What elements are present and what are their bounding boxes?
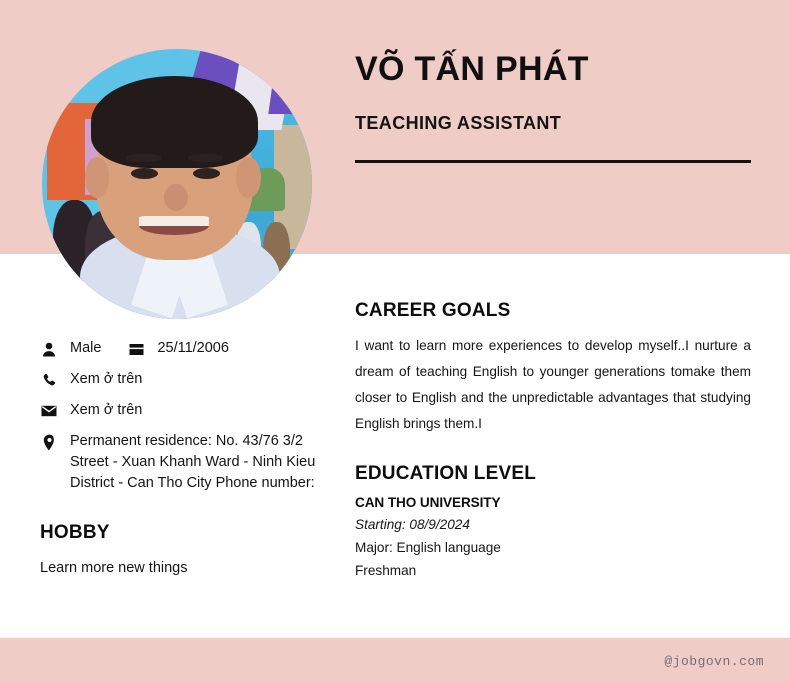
photo-subject-eyebrow-right xyxy=(188,154,223,162)
contact-row-gender-birthdate: Male 25/11/2006 xyxy=(40,338,340,359)
education-school: CAN THO UNIVERSITY xyxy=(355,495,751,510)
contact-birthdate-value: 25/11/2006 xyxy=(157,338,229,359)
footer-watermark: @jobgovn.com xyxy=(664,654,764,669)
location-pin-icon xyxy=(40,432,58,452)
person-icon xyxy=(40,339,58,359)
photo-subject-teeth xyxy=(139,216,209,226)
envelope-icon xyxy=(40,401,58,421)
career-goals-text: I want to learn more experiences to deve… xyxy=(355,333,751,437)
education-major: Major: English language xyxy=(355,540,751,555)
main-content-column: CAREER GOALS I want to learn more experi… xyxy=(355,300,751,578)
header-divider xyxy=(355,160,751,163)
job-role: TEACHING ASSISTANT xyxy=(355,113,751,134)
contact-gender: Male xyxy=(40,338,101,359)
profile-photo-image xyxy=(42,49,312,319)
contact-gender-value: Male xyxy=(70,338,101,359)
contact-column: Male 25/11/2006 Xem ở trên X xyxy=(40,338,340,578)
contact-phone-value: Xem ở trên xyxy=(70,369,142,390)
photo-subject-eye-left xyxy=(131,168,158,179)
education-starting-date: Starting: 08/9/2024 xyxy=(355,517,751,532)
photo-subject-eyebrow-left xyxy=(126,154,161,162)
contact-row-address: Permanent residence: No. 43/76 3/2 Stree… xyxy=(40,431,340,494)
contact-birthdate: 25/11/2006 xyxy=(127,338,229,359)
contact-address-value: Permanent residence: No. 43/76 3/2 Stree… xyxy=(70,431,340,494)
header-text-block: VÕ TẤN PHÁT TEACHING ASSISTANT xyxy=(355,49,751,163)
photo-subject-ear-left xyxy=(85,157,109,198)
photo-background-canopy-purple-right xyxy=(268,49,312,114)
education-year-level: Freshman xyxy=(355,563,751,578)
hobby-text: Learn more new things xyxy=(40,558,340,578)
photo-subject-eye-right xyxy=(193,168,220,179)
photo-subject-ear-right xyxy=(236,157,260,198)
phone-icon xyxy=(40,370,58,390)
contact-row-email: Xem ở trên xyxy=(40,400,340,421)
career-goals-title: CAREER GOALS xyxy=(355,300,751,322)
calendar-icon xyxy=(127,339,145,359)
profile-photo xyxy=(42,49,312,319)
contact-row-phone: Xem ở trên xyxy=(40,369,340,390)
hobby-section-title: HOBBY xyxy=(40,522,340,544)
contact-email-value: Xem ở trên xyxy=(70,400,142,421)
photo-subject-nose xyxy=(164,184,188,211)
photo-subject-hair xyxy=(91,76,258,168)
page-title: VÕ TẤN PHÁT xyxy=(355,49,751,89)
education-title: EDUCATION LEVEL xyxy=(355,463,751,485)
